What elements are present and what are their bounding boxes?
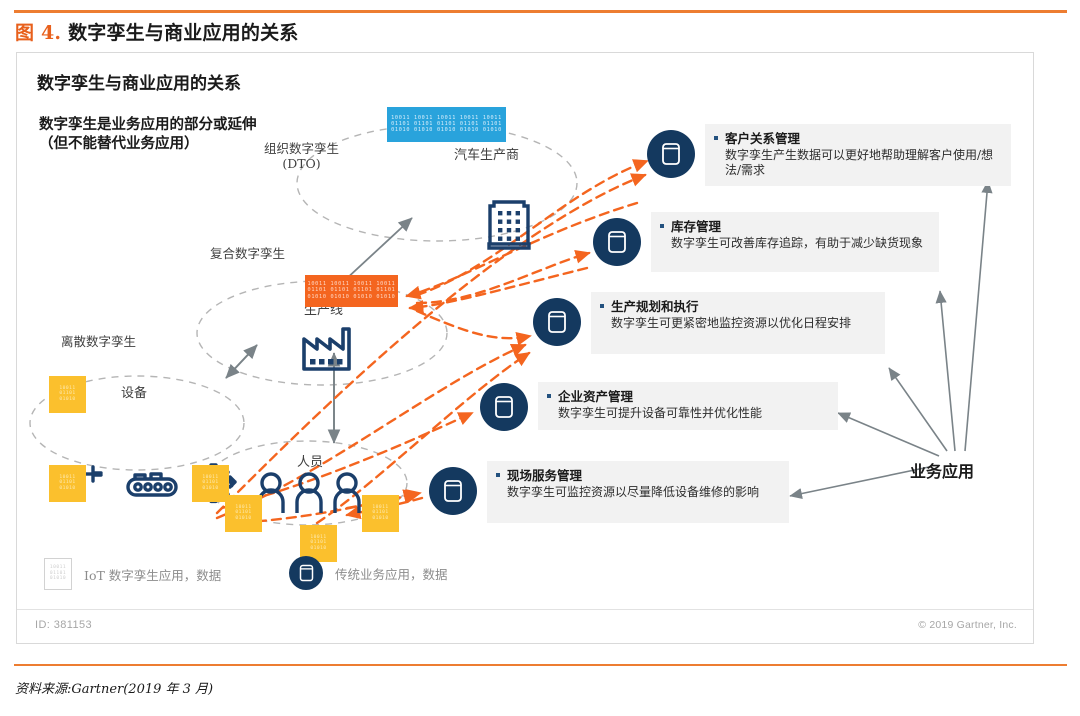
figure-id: ID: 381153 — [35, 619, 92, 631]
flow-prodline-to-production — [417, 311, 530, 338]
callout-title: 生产规划和执行 — [611, 299, 873, 315]
figure-title-text: 数字孪生与商业应用的关系 — [68, 22, 298, 44]
pointer-to-fsm — [790, 467, 929, 496]
callout-desc: 数字孪生可提升设备可靠性并优化性能 — [558, 406, 826, 422]
business-apps-label: 业务应用 — [910, 458, 974, 482]
node-label-auto-maker: 汽车生产商 — [454, 148, 519, 164]
callout-crm: 客户关系管理 数字孪生产生数据可以更好地帮助理解客户使用/想法/需求 — [705, 124, 1011, 186]
callout-bullet — [496, 473, 500, 477]
legend-label-business: 传统业务应用，数据 — [335, 564, 448, 583]
callout-bullet — [600, 304, 604, 308]
top-accent-rule — [14, 10, 1067, 13]
legend-item-iot: 10011 01101 01010 IoT 数字孪生应用，数据 — [44, 558, 221, 590]
database-icon — [607, 230, 627, 254]
database-icon — [299, 564, 314, 582]
source-note: 资料来源:Gartner(2019 年 3 月) — [15, 678, 213, 697]
callout-bullet — [714, 136, 718, 140]
bottom-accent-rule — [14, 664, 1067, 666]
binary-block-equipment-2: 10011 01101 01010 — [49, 465, 86, 502]
binary-block-equipment-1: 10011 01101 01010 — [49, 376, 86, 413]
figure-frame: 数字孪生与商业应用的关系 数字孪生是业务应用的部分或延伸（但不能替代业务应用） — [16, 52, 1034, 644]
database-circle-eam — [480, 383, 528, 431]
database-icon — [661, 142, 681, 166]
callout-title: 客户关系管理 — [725, 131, 999, 147]
legend-label-iot: IoT 数字孪生应用，数据 — [84, 565, 221, 584]
callout-desc: 数字孪生可监控资源以尽量降低设备维修的影响 — [507, 485, 777, 501]
figure-number: 图 4. — [15, 22, 61, 44]
tier-label-composite: 复合数字孪生 — [210, 246, 285, 261]
tier-label-discrete: 离散数字孪生 — [61, 334, 136, 349]
node-label-personnel: 人员 — [297, 455, 323, 471]
figure-title: 图 4. 数字孪生与商业应用的关系 — [15, 18, 915, 45]
conveyor-icon — [128, 474, 176, 495]
binary-block-equipment-3: 10011 01101 01010 — [192, 465, 229, 502]
pointer-to-eam — [838, 413, 939, 456]
database-icon — [547, 310, 567, 334]
callout-title: 库存管理 — [671, 219, 927, 235]
binary-block-production-line: 10011 10011 10011 10011 01101 01101 0110… — [305, 275, 398, 307]
callout-bullet — [547, 394, 551, 398]
arrow-line-to-dto — [344, 218, 412, 281]
figure-copyright: © 2019 Gartner, Inc. — [918, 619, 1017, 631]
database-circle-icon — [289, 556, 323, 590]
iot-binary-icon: 10011 01101 01010 — [44, 558, 72, 590]
legend-item-business: 传统业务应用，数据 — [289, 556, 448, 590]
callout-title: 现场服务管理 — [507, 468, 777, 484]
office-building-icon — [489, 202, 529, 248]
callout-title: 企业资产管理 — [558, 389, 826, 405]
database-icon — [494, 395, 514, 419]
callout-production: 生产规划和执行 数字孪生可更紧密地监控资源以优化日程安排 — [591, 292, 885, 354]
callout-desc: 数字孪生产生数据可以更好地帮助理解客户使用/想法/需求 — [725, 148, 999, 179]
node-label-equipment: 设备 — [121, 386, 147, 402]
callout-bullet — [660, 224, 664, 228]
binary-block-personnel-3: 10011 01101 01010 — [362, 495, 399, 532]
callout-desc: 数字孪生可更紧密地监控资源以优化日程安排 — [611, 316, 873, 332]
pointer-to-inventory — [940, 291, 955, 451]
pointer-to-crm — [965, 181, 988, 451]
database-icon — [443, 479, 463, 503]
database-circle-crm — [647, 130, 695, 178]
callout-desc: 数字孪生可改善库存追踪，有助于减少缺货现象 — [671, 236, 927, 252]
database-circle-fsm — [429, 467, 477, 515]
figure-page: 图 4. 数字孪生与商业应用的关系 数字孪生与商业应用的关系 数字孪生是业务应用… — [0, 0, 1080, 716]
tier-label-dto: 组织数字孪生 (DTO) — [264, 141, 339, 171]
database-circle-inventory — [593, 218, 641, 266]
binary-block-personnel-1: 10011 01101 01010 — [225, 495, 262, 532]
callout-fsm: 现场服务管理 数字孪生可监控资源以尽量降低设备维修的影响 — [487, 461, 789, 523]
binary-block-auto-maker: 10011 10011 10011 10011 10011 01101 0110… — [387, 107, 506, 142]
figure-footer: ID: 381153 © 2019 Gartner, Inc. — [17, 609, 1033, 643]
database-circle-production — [533, 298, 581, 346]
callout-inventory: 库存管理 数字孪生可改善库存追踪，有助于减少缺货现象 — [651, 212, 939, 272]
flow-prodline-to-inventory — [417, 253, 589, 303]
factory-icon — [304, 329, 349, 369]
callout-eam: 企业资产管理 数字孪生可提升设备可靠性并优化性能 — [538, 382, 838, 430]
